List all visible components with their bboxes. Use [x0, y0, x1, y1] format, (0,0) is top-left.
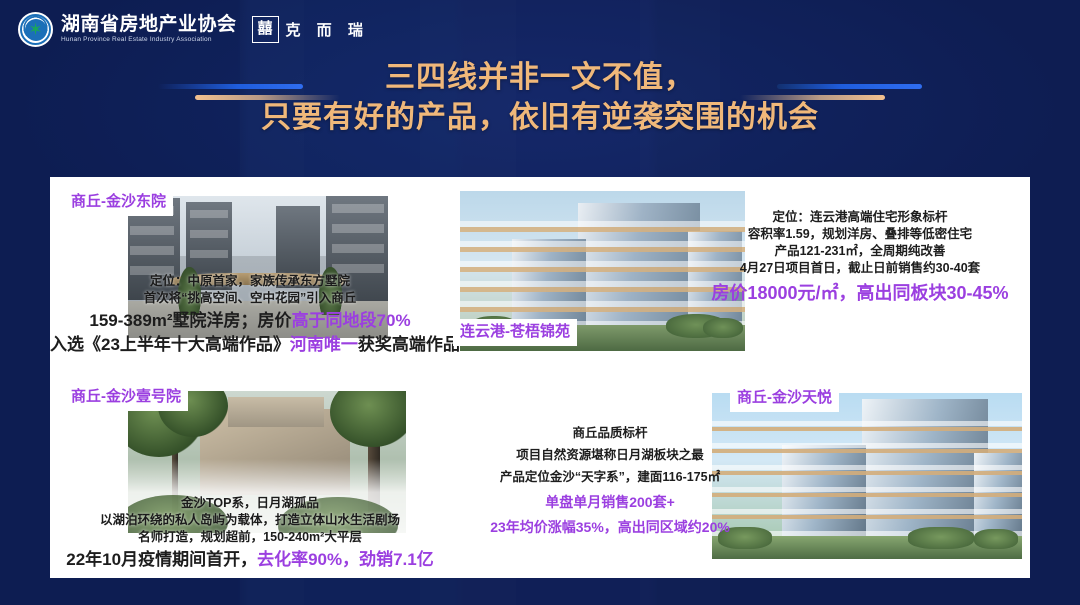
text-line: 定位：连云港高端住宅形象标杆: [690, 209, 1030, 226]
text-line: 容积率1.59，规划洋房、叠排等低密住宅: [690, 226, 1030, 243]
caption-plain: 获奖高端作品: [358, 335, 460, 354]
caption-highlight: 高于同地段70%: [292, 311, 411, 330]
shangqiu-jinsha-tianyue-label: 商丘-金沙天悦: [730, 385, 839, 412]
lianyungang-cangwu-jinyuan-label: 连云港-苍梧锦苑: [453, 319, 577, 346]
organization-logo: ✶ 湖南省房地产业协会 Hunan Province Real Estate I…: [18, 12, 369, 47]
caption-highlight: 河南唯一: [290, 335, 358, 354]
shangqiu-jinsha-dongyuan-label: 商丘-金沙东院: [64, 189, 173, 216]
title-line-1: 三四线并非一文不值，: [0, 58, 1080, 98]
org-name-en: Hunan Province Real Estate Industry Asso…: [61, 35, 237, 44]
slide-title: 三四线并非一文不值， 只要有好的产品，依旧有逆袭突围的机会: [0, 58, 1080, 138]
header-bar: ✶ 湖南省房地产业协会 Hunan Province Real Estate I…: [0, 0, 1080, 57]
highlight-line: 房价18000元/㎡，高出同板块30-45%: [690, 281, 1030, 305]
shangqiu-jinsha-dongyuan-caption-on-photo: 定位：中原首家，家族传承东方墅院 首次将“挑高空间、空中花园”引入商丘: [50, 273, 450, 307]
shangqiu-jinsha-tianyue-text: 商丘品质标杆 项目自然资源堪称日月湖板块之最 产品定位金沙“天字系”，建面116…: [450, 425, 770, 536]
highlight-line: 单盘单月销售200套+: [450, 494, 770, 511]
content-card: 商丘-金沙东院 定位：中原首家，家族传承东方墅院 首次将“挑高空间、空中花园”引…: [50, 177, 1030, 578]
text-line: 产品定位金沙“天字系”，建面116-175㎡: [450, 469, 770, 486]
partner-logo: 囍 克 而 瑞: [252, 16, 369, 43]
caption-line: 金沙TOP系，日月湖孤品: [50, 495, 450, 512]
org-name-cn: 湖南省房地产业协会: [61, 15, 237, 35]
caption-line: 159-389m²墅院洋房；房价高于同地段70%: [50, 309, 450, 333]
shangqiu-jinsha-yihaoyuan-caption-below: 22年10月疫情期间首开，去化率90%，劲销7.1亿: [50, 548, 450, 572]
partner-name: 克 而 瑞: [286, 19, 369, 40]
slide-root: ✶ 湖南省房地产业协会 Hunan Province Real Estate I…: [0, 0, 1080, 605]
caption-plain: 22年10月疫情期间首开，: [66, 550, 257, 569]
caption-line: 定位：中原首家，家族传承东方墅院: [50, 273, 450, 290]
shangqiu-jinsha-yihaoyuan-caption-on-photo: 金沙TOP系，日月湖孤品 以湖泊环绕的私人岛屿为载体，打造立体山水生活剧场 名师…: [50, 495, 450, 546]
lianyungang-cangwu-jinyuan-text: 定位：连云港高端住宅形象标杆 容积率1.59，规划洋房、叠排等低密住宅 产品12…: [690, 209, 1030, 305]
text-line: 商丘品质标杆: [450, 425, 770, 442]
shangqiu-jinsha-yihaoyuan-label: 商丘-金沙壹号院: [64, 384, 188, 411]
association-logo-icon: ✶: [18, 12, 53, 47]
partner-seal-icon: 囍: [252, 16, 279, 43]
text-line: 项目自然资源堪称日月湖板块之最: [450, 447, 770, 464]
text-line: 产品121-231㎡，全周期纯改善: [690, 243, 1030, 260]
caption-line: 入选《23上半年十大高端作品》河南唯一获奖高端作品: [50, 333, 450, 357]
caption-plain: 159-389m²墅院洋房；房价: [89, 311, 291, 330]
highlight-line: 23年均价涨幅35%，高出同区域约20%: [450, 519, 770, 536]
shangqiu-jinsha-dongyuan-caption-below: 159-389m²墅院洋房；房价高于同地段70% 入选《23上半年十大高端作品》…: [50, 309, 450, 357]
caption-plain: 入选《23上半年十大高端作品》: [50, 335, 290, 354]
caption-line: 名师打造，规划超前，150-240m²大平层: [50, 529, 450, 546]
caption-line: 22年10月疫情期间首开，去化率90%，劲销7.1亿: [50, 548, 450, 572]
caption-line: 以湖泊环绕的私人岛屿为载体，打造立体山水生活剧场: [50, 512, 450, 529]
caption-highlight: 去化率90%，劲销7.1亿: [257, 550, 434, 569]
text-line: 4月27日项目首日，截止日前销售约30-40套: [690, 260, 1030, 277]
title-line-2: 只要有好的产品，依旧有逆袭突围的机会: [0, 98, 1080, 138]
caption-line: 首次将“挑高空间、空中花园”引入商丘: [50, 290, 450, 307]
